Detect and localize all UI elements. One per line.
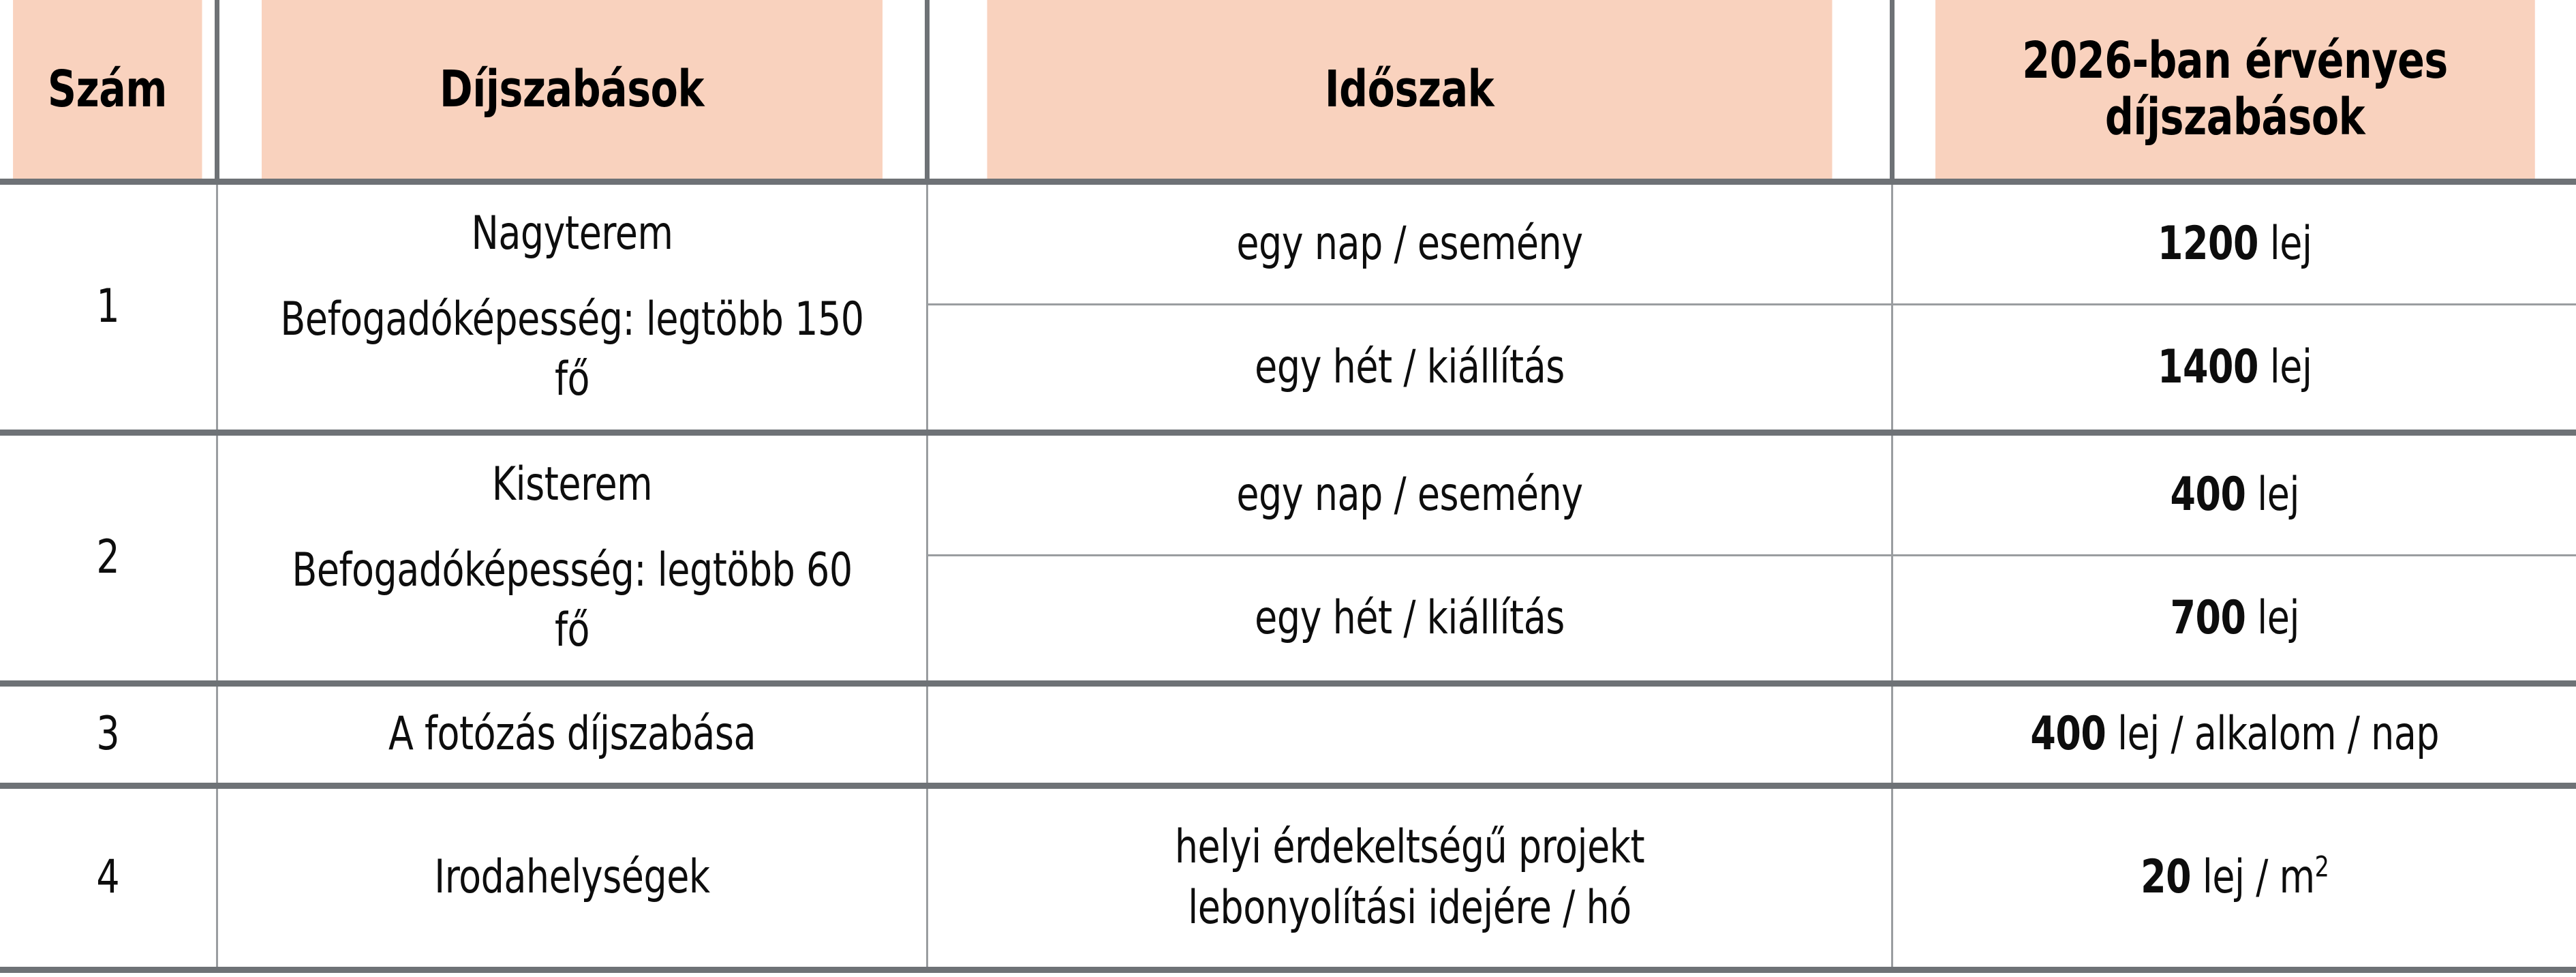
row-period: egy hét / kiállítás	[927, 556, 1892, 684]
row-number: 2	[0, 433, 217, 684]
row-price: 1400 lej	[1892, 305, 2576, 433]
row-price: 400 lej	[1892, 433, 2576, 556]
row-tariff-name: Kisterem Befogadóképesség: legtöbb 60 fő	[217, 433, 927, 684]
price-unit: lej	[2257, 468, 2299, 522]
price-value: 1400	[2158, 340, 2258, 394]
price-value: 1200	[2158, 217, 2258, 271]
price-unit: lej	[2269, 340, 2312, 394]
header-row: Szám Díjszabások Időszak 2026-ban érvény…	[0, 0, 2576, 182]
row-tariff-name: A fotózás díjszabása	[217, 684, 927, 786]
price-value: 20	[2141, 850, 2191, 904]
price-unit: lej / alkalom / nap	[2117, 707, 2439, 761]
table-body: 1 Nagyterem Befogadóképesség: legtöbb 15…	[0, 182, 2576, 970]
row-number: 4	[0, 786, 217, 970]
price-value: 700	[2170, 591, 2245, 645]
table-row: 4 Irodahelységek helyi érdekeltségű proj…	[0, 786, 2576, 970]
header-number: Szám	[13, 0, 204, 182]
header-period: Időszak	[985, 0, 1834, 182]
row-tariff-name: Nagyterem Befogadóképesség: legtöbb 150 …	[217, 182, 927, 433]
row-period: egy hét / kiállítás	[927, 305, 1892, 433]
table-row: 2 Kisterem Befogadóképesség: legtöbb 60 …	[0, 433, 2576, 556]
price-unit-exponent: 2	[2314, 850, 2329, 884]
rate-table: Szám Díjszabások Időszak 2026-ban érvény…	[0, 0, 2576, 973]
price-unit: lej	[2269, 217, 2312, 271]
price-unit: lej	[2257, 591, 2299, 645]
row-price: 20 lej / m2	[1892, 786, 2576, 970]
row-price: 400 lej / alkalom / nap	[1892, 684, 2576, 786]
row-period: helyi érdekeltségű projekt lebonyolítási…	[927, 786, 1892, 970]
header-valid-rates: 2026-ban érvényes díjszabások	[1933, 0, 2535, 182]
row-period: egy nap / esemény	[927, 182, 1892, 305]
price-value: 400	[2030, 707, 2106, 761]
row-price: 700 lej	[1892, 556, 2576, 684]
header-tariffs: Díjszabások	[260, 0, 885, 182]
row-number: 3	[0, 684, 217, 786]
row-period	[927, 684, 1892, 786]
price-unit: lej / m	[2202, 850, 2314, 904]
row-tariff-name: Irodahelységek	[217, 786, 927, 970]
table-row: 3 A fotózás díjszabása 400 lej / alkalom…	[0, 684, 2576, 786]
price-value: 400	[2170, 468, 2245, 522]
table-row: 1 Nagyterem Befogadóképesség: legtöbb 15…	[0, 182, 2576, 305]
row-number: 1	[0, 182, 217, 433]
row-price: 1200 lej	[1892, 182, 2576, 305]
table-header: Szám Díjszabások Időszak 2026-ban érvény…	[0, 0, 2576, 182]
row-period: egy nap / esemény	[927, 433, 1892, 556]
